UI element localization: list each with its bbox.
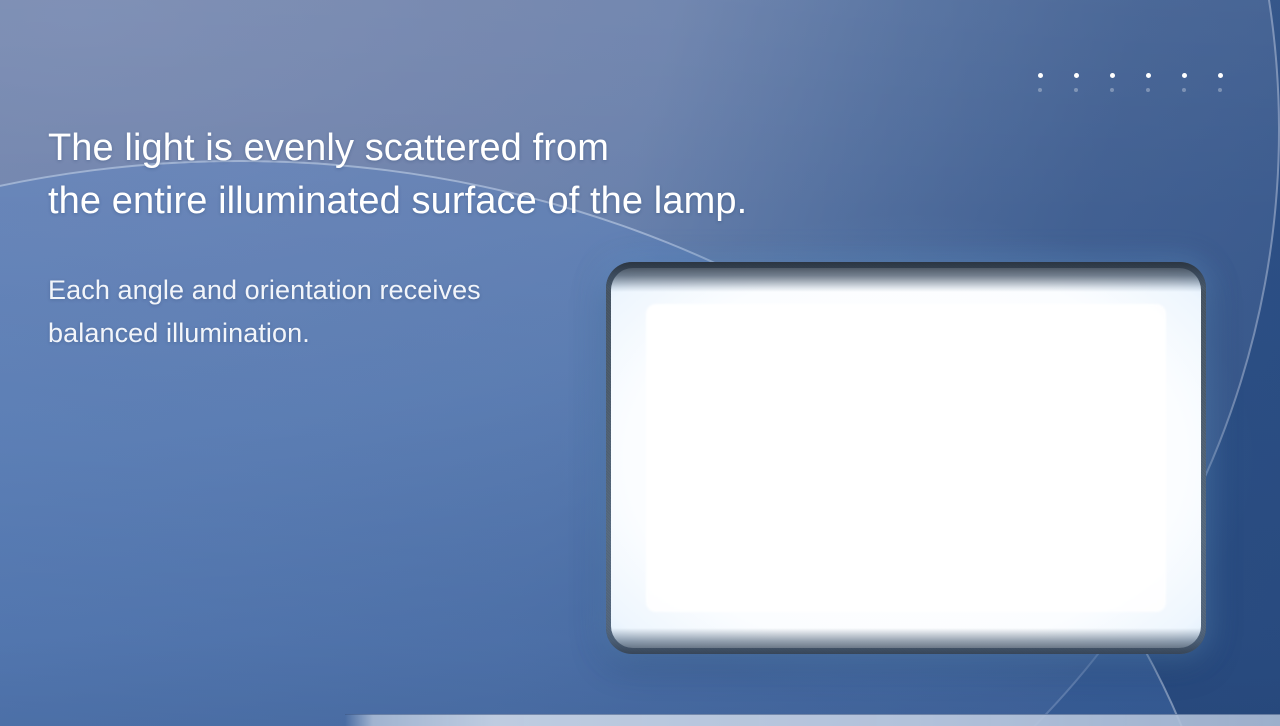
dot-dim-2 bbox=[1074, 88, 1078, 92]
decor-dot-grid bbox=[1038, 73, 1254, 103]
dot-bright-5 bbox=[1182, 73, 1187, 78]
decor-bottom-strip bbox=[345, 714, 1280, 726]
dot-bright-1 bbox=[1038, 73, 1043, 78]
dot-dim-5 bbox=[1182, 88, 1186, 92]
lamp-bottom-inner-shadow bbox=[606, 628, 1206, 654]
dot-dim-6 bbox=[1218, 88, 1222, 92]
dot-dim-1 bbox=[1038, 88, 1042, 92]
dot-bright-6 bbox=[1218, 73, 1223, 78]
dot-bright-4 bbox=[1146, 73, 1151, 78]
slide-canvas: The light is evenly scattered from the e… bbox=[0, 0, 1280, 726]
dot-dim-3 bbox=[1110, 88, 1114, 92]
text-block: The light is evenly scattered from the e… bbox=[48, 122, 948, 355]
dot-bright-2 bbox=[1074, 73, 1079, 78]
dot-dim-4 bbox=[1146, 88, 1150, 92]
subheadline: Each angle and orientation receives bala… bbox=[48, 269, 948, 355]
dot-bright-3 bbox=[1110, 73, 1115, 78]
headline: The light is evenly scattered from the e… bbox=[48, 122, 948, 228]
